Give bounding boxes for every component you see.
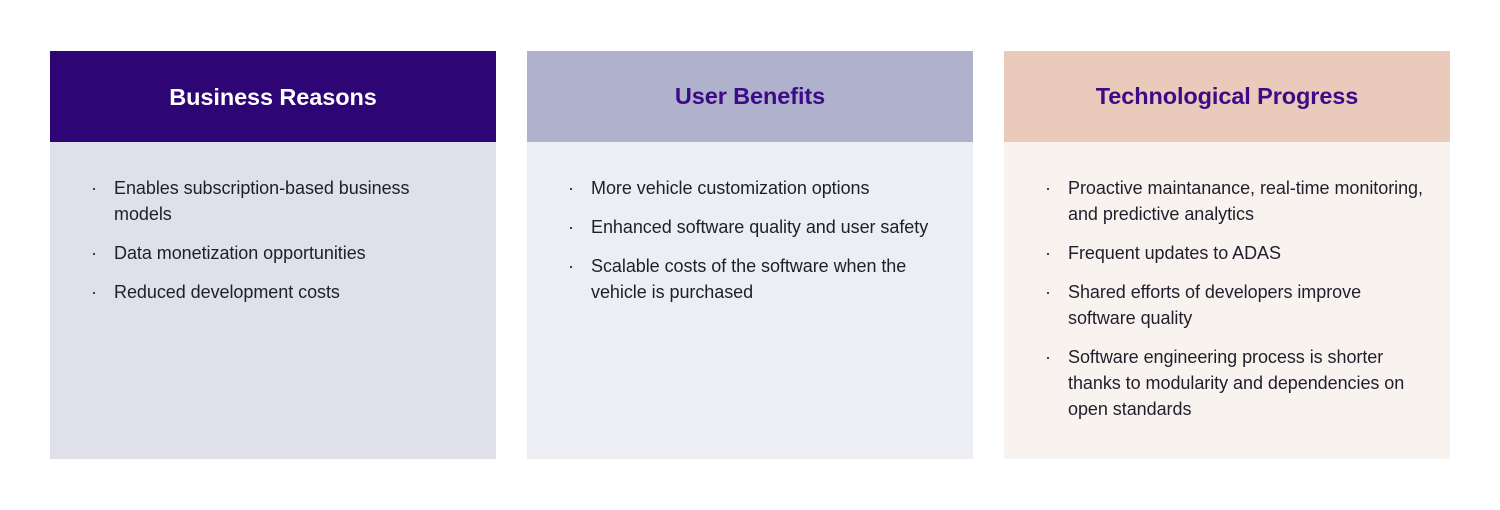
bullet-list-user-benefits: · More vehicle customization options · E… (568, 175, 943, 305)
list-item-text: Reduced development costs (114, 282, 340, 302)
list-item: · Proactive maintanance, real-time monit… (1045, 175, 1428, 227)
column-header-user-benefits: User Benefits (527, 51, 973, 142)
bullet-dot-icon: · (1045, 240, 1059, 266)
bullet-dot-icon: · (568, 214, 582, 240)
bullet-dot-icon: · (91, 279, 105, 305)
list-item-text: More vehicle customization options (591, 178, 869, 198)
bullet-dot-icon: · (91, 240, 105, 266)
bullet-dot-icon: · (568, 253, 582, 279)
list-item: · Reduced development costs (91, 279, 468, 305)
bullet-dot-icon: · (568, 175, 582, 201)
bullet-dot-icon: · (1045, 279, 1059, 305)
bullet-dot-icon: · (1045, 344, 1059, 370)
column-header-technological-progress: Technological Progress (1004, 51, 1450, 142)
list-item-text: Enhanced software quality and user safet… (591, 217, 928, 237)
column-body-technological-progress: · Proactive maintanance, real-time monit… (1004, 142, 1450, 459)
column-card-technological-progress: Technological Progress · Proactive maint… (1004, 51, 1450, 459)
list-item: · Frequent updates to ADAS (1045, 240, 1428, 266)
list-item-text: Software engineering process is shorter … (1068, 347, 1404, 419)
list-item: · More vehicle customization options (568, 175, 943, 201)
list-item: · Scalable costs of the software when th… (568, 253, 943, 305)
list-item-text: Data monetization opportunities (114, 243, 366, 263)
list-item-text: Scalable costs of the software when the … (591, 256, 906, 302)
list-item: · Enhanced software quality and user saf… (568, 214, 943, 240)
column-card-business-reasons: Business Reasons · Enables subscription-… (50, 51, 496, 459)
bullet-list-technological-progress: · Proactive maintanance, real-time monit… (1045, 175, 1428, 422)
list-item-text: Proactive maintanance, real-time monitor… (1068, 178, 1423, 224)
list-item-text: Shared efforts of developers improve sof… (1068, 282, 1361, 328)
bullet-dot-icon: · (91, 175, 105, 201)
column-title-user-benefits: User Benefits (675, 84, 825, 110)
bullet-list-business-reasons: · Enables subscription-based business mo… (91, 175, 468, 305)
column-header-business-reasons: Business Reasons (50, 51, 496, 142)
list-item: · Shared efforts of developers improve s… (1045, 279, 1428, 331)
list-item: · Data monetization opportunities (91, 240, 468, 266)
column-body-user-benefits: · More vehicle customization options · E… (527, 142, 973, 459)
bullet-dot-icon: · (1045, 175, 1059, 201)
column-body-business-reasons: · Enables subscription-based business mo… (50, 142, 496, 459)
column-card-user-benefits: User Benefits · More vehicle customizati… (527, 51, 973, 459)
list-item: · Software engineering process is shorte… (1045, 344, 1428, 422)
list-item: · Enables subscription-based business mo… (91, 175, 468, 227)
diagram-board: Business Reasons · Enables subscription-… (0, 0, 1500, 510)
list-item-text: Frequent updates to ADAS (1068, 243, 1281, 263)
column-title-technological-progress: Technological Progress (1096, 84, 1358, 110)
list-item-text: Enables subscription-based business mode… (114, 178, 409, 224)
column-title-business-reasons: Business Reasons (169, 82, 376, 111)
